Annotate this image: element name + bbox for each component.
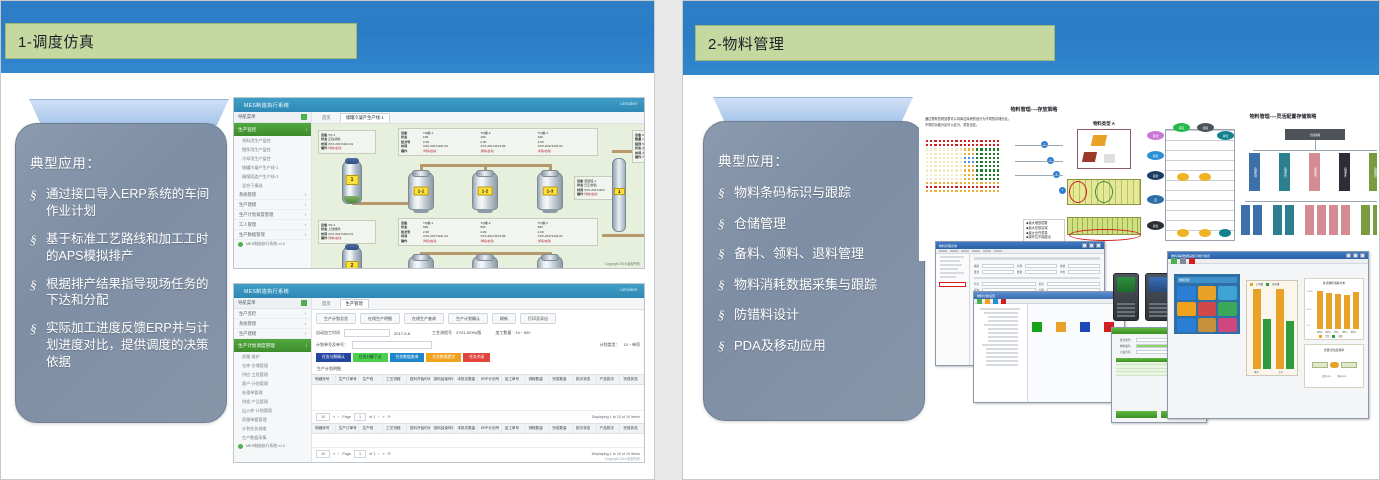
mes-plan-screenshot: MES制造执行系统 uimaker 导航菜单 生产监控› 系统管理› 生产建模›: [233, 283, 645, 463]
pda-icon[interactable]: [1218, 318, 1237, 332]
bullet-marker-icon: §: [30, 231, 46, 265]
mes-nav-item[interactable]: 系统管理›: [234, 190, 311, 200]
tag-blue: 巷道: [1147, 151, 1164, 160]
rack-layout-graphic: 区域 巷道 货架 层 货位 库区 通道 库位: [1147, 125, 1239, 245]
org-l2: [1329, 205, 1338, 235]
bar-plan-1: [1253, 289, 1261, 369]
info-val: 正在领料: [328, 137, 340, 141]
org-l1: 存储类型: [1309, 153, 1320, 191]
cube-icon-yellow: [1091, 135, 1107, 146]
pager-of: of 1: [369, 452, 375, 456]
mes-subitem[interactable]: 出入库·计划管理: [234, 406, 311, 415]
th: 操作: [401, 149, 407, 153]
tank-cap-icon: [345, 244, 359, 250]
side-legend: 实际: [1338, 334, 1342, 338]
mes-subitem[interactable]: 供应·工程管理: [234, 370, 311, 379]
chart-xtick: 本月: [1254, 370, 1259, 374]
grid-col: 生产订单号: [336, 424, 360, 433]
grid-col: 工艺流程: [383, 424, 407, 433]
mes-sidebar-header: 导航菜单: [234, 112, 311, 123]
org-root: 仓储策略: [1285, 129, 1345, 140]
mes-subitem[interactable]: 处理单管理: [234, 388, 311, 397]
pda-screen: [1117, 277, 1135, 292]
report-titlebar: 物料消耗数据采集与统计报表: [1168, 252, 1368, 259]
mes-nav-label: 系统管理: [239, 192, 256, 198]
pager-label: Page: [342, 415, 351, 419]
mes-nav-item[interactable]: 生产数据管理›: [234, 230, 311, 240]
mes-tab-home[interactable]: 首页: [317, 114, 336, 122]
side-bar: [1344, 295, 1350, 329]
grid-col: 明细序号: [312, 375, 336, 384]
side-ytick: 100%: [1307, 291, 1313, 293]
chevron-right-icon: ›: [305, 343, 307, 348]
slide-2-bullet-6: § PDA及移动应用: [718, 337, 914, 355]
chevron-right-icon: ›: [305, 321, 306, 326]
mes-nav-active-label: 生产计划调度管理: [238, 343, 275, 349]
org-l1: 存储库位: [1279, 153, 1290, 191]
grid-col: 工艺流程: [383, 375, 407, 384]
mes-subitem[interactable]: 质量·维护: [234, 352, 311, 361]
material-dialog: 物料分类设置: [973, 291, 1125, 403]
form-row-2: 计划单号及单号： 计划类型： 10・单项: [312, 339, 644, 351]
bullet-text: PDA及移动应用: [734, 337, 914, 355]
grid-col: 生产线: [359, 375, 383, 384]
grid-col: 产品批次: [597, 375, 621, 384]
tank-cap-icon: [345, 158, 359, 164]
grid-header-row-1: 明细序号 生产订单号 生产线 工艺流程 投料开始时间 投料结束时间 本批次数量 …: [312, 374, 644, 385]
field-input[interactable]: [344, 329, 390, 337]
flexible-storage-title: 物料管理----灵活配置存储策略: [1189, 113, 1377, 120]
field-value: 2017-9-8: [394, 331, 410, 336]
chevron-right-icon: ›: [305, 127, 307, 132]
pager-1: 10 « ‹ Page 1 of 1 › » ⟳ Displaying 1 to…: [312, 411, 644, 423]
th: 状态: [401, 225, 407, 229]
form-row-1: 自动加工时间 2017-9-8 工艺流程号 ZY01-9ZHU版 加工数量 10…: [312, 327, 644, 339]
pager-info: Displaying 1 to 10 of 10 items: [592, 415, 640, 419]
chevron-right-icon: ›: [305, 192, 306, 197]
legend-swatch-green: [1032, 322, 1042, 332]
mes-sidebar-footer: MES制造执行系统 v1.0: [234, 442, 311, 451]
first-page-icon[interactable]: «: [333, 452, 335, 456]
toolbar-button[interactable]: 在线生产明细: [360, 313, 400, 324]
report-title: 物料消耗数据采集与统计报表: [1171, 254, 1210, 258]
page-size-select[interactable]: 10: [316, 450, 330, 458]
side-bar: [1335, 294, 1341, 329]
storage-strategy-diagram: 物料管理----存放策略 通过物有的规划表可以将库位库房的划分为不同的存储分区。…: [919, 101, 1149, 261]
bar-plan-2: [1276, 289, 1284, 369]
info-key: 操作: [321, 236, 327, 240]
pallet-dot: [1177, 173, 1189, 181]
mes-nav-item[interactable]: 生产计划调度管理›: [234, 210, 311, 220]
grid-col: 投料开始时间: [407, 424, 431, 433]
slide-2-bullet-2: § 仓储管理: [718, 215, 914, 233]
field-label: 工艺流程号: [432, 330, 452, 336]
refresh-icon[interactable]: ⟳: [388, 415, 391, 419]
mes-subitem[interactable]: 排程·产品管理: [234, 397, 311, 406]
slide-2-bullet-5: § 防错料设计: [718, 306, 914, 324]
mes-tabbar: 首页 生产管理: [312, 298, 644, 310]
legend-swatch-blue: [1080, 322, 1090, 332]
tag-purple: 区域: [1147, 131, 1164, 140]
note-item: ◆操作位不能超出: [1026, 235, 1062, 240]
org-l1: 存储规则: [1369, 153, 1377, 191]
page-input[interactable]: 1: [354, 413, 366, 421]
mes-subitem[interactable]: 搅拌用生产监控: [234, 145, 311, 154]
reactor-tank: 1-1: [408, 172, 434, 210]
mes-user-label: uimaker: [620, 101, 638, 106]
mes-sidebar: 导航菜单 生产监控› 系统管理› 生产建模› 生产计划调度管理 › 质量·维护 …: [234, 298, 312, 462]
mes-tab-active[interactable]: 生产管理: [340, 299, 369, 308]
pda-field-label: 物料编码：: [1120, 344, 1133, 348]
pda-device-1: [1113, 273, 1139, 321]
column-label: 1: [614, 188, 625, 195]
report-window: 物料消耗数据采集与统计报表 物料管理: [1167, 251, 1369, 419]
mes-nav-item[interactable]: 系统管理›: [234, 319, 311, 329]
action-button[interactable]: 任务数据查询: [390, 353, 425, 362]
org-l2: [1273, 205, 1282, 235]
tank-label: 1-3: [543, 187, 558, 196]
org-l2: [1305, 205, 1314, 235]
th: 状态: [401, 135, 407, 139]
first-page-icon[interactable]: «: [333, 415, 335, 419]
chevron-right-icon: ›: [305, 311, 306, 316]
action-button[interactable]: 任务分解确认: [316, 353, 351, 362]
pda-icon[interactable]: [1218, 286, 1237, 300]
device-info-box: 设备 TQ-1 状态 正在领料 时间 XXX-20171101:01 操作 详情…: [318, 130, 376, 154]
collapse-icon[interactable]: [301, 114, 307, 120]
action-button[interactable]: 任务分解下达: [353, 353, 388, 362]
grid-col: 生产订单号: [336, 375, 360, 384]
mes-nav-label: 生产计划调度管理: [239, 212, 273, 218]
bullet-text: 仓储管理: [734, 215, 914, 233]
pda-icon[interactable]: [1198, 318, 1217, 332]
legend-label: 计划量: [1256, 282, 1263, 286]
side-xtick: 物料D: [1342, 331, 1347, 334]
pda-app-title: 物料管理: [1179, 278, 1189, 282]
mes-sidebar: 导航菜单 生产监控 › 领料用生产监控 搅拌用生产监控 冷却用生产监控 储罐冷凝…: [234, 112, 312, 268]
chart-legend: 计划量 实际量: [1250, 282, 1279, 286]
chevron-right-icon: ›: [305, 331, 306, 336]
grid-col: 投料结束时间: [431, 424, 455, 433]
bar-actual-2: [1286, 321, 1294, 369]
toolbar-button[interactable]: 生产计划确认: [448, 313, 488, 324]
org-l2: [1253, 205, 1262, 235]
status-dot-icon: [238, 444, 243, 449]
pda-field-label: 批次类型：: [1120, 338, 1133, 342]
window-tree-pane[interactable]: [936, 254, 970, 365]
prev-page-icon[interactable]: ‹: [338, 452, 339, 456]
toolbar-button[interactable]: 打印及导出: [520, 313, 556, 324]
toolbar-button[interactable]: 刷新: [492, 313, 516, 324]
chevron-right-icon: ›: [305, 222, 306, 227]
action-button[interactable]: 任务关闭: [463, 353, 490, 362]
side-legend: 计划: [1325, 334, 1329, 338]
field-input[interactable]: [352, 341, 432, 349]
slide-1-callout: 典型应用： § 通过接口导入ERP系统的车间作业计划 § 基于标准工艺路线和加工…: [15, 123, 227, 423]
side-chart: 重点物料消耗分布 100% 50% 0% 物料A 物料B 物料C 物料D 物料E: [1304, 278, 1364, 340]
chevron-right-icon: ›: [305, 202, 306, 207]
grid-col: 投料开始时间: [407, 375, 431, 384]
product-info-box: 设备 MQG-1 数量 1.00 级别 500 状态 进料出水 时间 XXX-2…: [632, 130, 644, 163]
pda-confirm-button[interactable]: [1116, 411, 1157, 418]
mes-nav-active-label: 生产监控: [238, 127, 256, 133]
mes-nav-item[interactable]: 生产建模›: [234, 329, 311, 339]
material-type-box: [1077, 129, 1131, 169]
bullet-marker-icon: §: [718, 276, 734, 294]
highlight-ellipse-red: [1069, 181, 1087, 203]
next-page-icon[interactable]: ›: [378, 415, 379, 419]
page-input[interactable]: 1: [354, 450, 366, 458]
org-l1: 存储条件: [1339, 153, 1350, 191]
org-l1: 存储区域: [1249, 153, 1260, 191]
slide-1-header-bar: 1-调度仿真: [5, 23, 357, 59]
info-key: 状态: [321, 227, 327, 231]
bullet-text: 实际加工进度反馈ERP并与计划进度对比，提供调度的决策依据: [46, 320, 216, 371]
grid-col: 本批次数量: [454, 375, 478, 384]
usage-panel: 仓储 货位使用率 占用 82%空闲 18%: [1304, 344, 1364, 388]
slide-1-bullet-4: § 实际加工进度反馈ERP并与计划进度对比，提供调度的决策依据: [30, 320, 216, 371]
tag-navy: 货架: [1147, 171, 1164, 180]
mes-subitem[interactable]: 混合干燥选: [234, 181, 311, 190]
mes-subitem[interactable]: 精馏塔造产生产线-1: [234, 172, 311, 181]
mes-subitem[interactable]: 计划任务调度: [234, 424, 311, 433]
status-dot-icon: [238, 242, 243, 247]
tag-teal: 库位: [1217, 131, 1234, 140]
mes-subitem[interactable]: 冷却用生产监控: [234, 154, 311, 163]
bullet-marker-icon: §: [30, 186, 46, 220]
mes-subitem[interactable]: 领料用生产监控: [234, 136, 311, 145]
bullet-marker-icon: §: [718, 337, 734, 355]
grid-col: 排程数量: [525, 424, 549, 433]
flexible-storage-diagram: 物料管理----灵活配置存储策略 区域 巷道 货架 层 货位 库区 通道 库位 …: [1145, 101, 1377, 251]
material-consumption-chart: 计划量 实际量 本月 上月: [1246, 280, 1298, 376]
grid-body-2: [312, 434, 644, 448]
action-button-row: 任务分解确认 任务分解下达 任务数据查询 任务数据提交 任务关闭: [312, 351, 644, 364]
window-titlebar: 物料管理系统: [936, 242, 1104, 249]
grid-col: 完成数量: [549, 375, 573, 384]
bullet-marker-icon: §: [30, 320, 46, 371]
chart-xtick: 上月: [1278, 370, 1283, 374]
toolbar-button[interactable]: 生产计划总览: [316, 313, 356, 324]
legend-label: 实际量: [1272, 282, 1279, 286]
reactor-tank: 2-3: [537, 256, 563, 268]
action-button[interactable]: 任务数据提交: [426, 353, 461, 362]
mes-form-area: 生产计划总览 在线生产明细 在线生产查询 生产计划确认 刷新 打印及导出 自动加…: [312, 310, 644, 462]
bullet-text: 物料消耗数据采集与跟踪: [734, 276, 914, 294]
mes-nav-active[interactable]: 生产计划调度管理 ›: [234, 339, 311, 352]
page-size-select[interactable]: 10: [316, 413, 330, 421]
tank-label: 2: [346, 261, 359, 268]
reactor-tank: 1-2: [472, 172, 498, 210]
mes-app-title: MES制造执行系统: [244, 288, 289, 295]
side-xtick: 物料E: [1351, 331, 1356, 334]
side-bar: [1326, 293, 1332, 329]
grid-col: 批次状态: [573, 375, 597, 384]
grid-col: ERP计划号: [478, 375, 502, 384]
chevron-right-icon: ›: [305, 212, 306, 217]
cube-icon-gray: [1104, 154, 1115, 163]
bullet-text: 基于标准工艺路线和加工工时的APS模拟排产: [46, 231, 216, 265]
org-connector: [1245, 201, 1377, 202]
pda-icon[interactable]: [1177, 286, 1196, 300]
dialog-tree[interactable]: [974, 304, 1028, 402]
side-ytick: 0%: [1307, 325, 1310, 327]
section-label: 生产计划明细: [312, 364, 644, 374]
refresh-icon[interactable]: ⟳: [388, 452, 391, 456]
bullet-text: 物料条码标识与跟踪: [734, 184, 914, 202]
slide-2-bullet-4: § 物料消耗数据采集与跟踪: [718, 276, 914, 294]
bullet-marker-icon: §: [718, 306, 734, 324]
pallet-dot: [1219, 229, 1231, 237]
slide-2-header-text: 2-物料管理: [696, 33, 784, 54]
org-l2: [1285, 205, 1294, 235]
grid-col: 本批次数量: [454, 424, 478, 433]
mes-footer-text: MES制造执行系统 v1.0: [246, 242, 285, 247]
info-key: 操作: [321, 146, 327, 150]
tank-label: 1-2: [478, 187, 493, 196]
org-connector: [1315, 140, 1316, 150]
th: 时间: [401, 144, 407, 148]
slide-2-bullet-1: § 物料条码标识与跟踪: [718, 184, 914, 202]
reactor-tank: 2-2: [472, 256, 498, 268]
pallet-dot: [1199, 229, 1211, 237]
tag-blue2: 层: [1147, 195, 1164, 204]
grid-header-row-2: 明细序号 生产订单号 生产线 工艺流程 投料开始时间 投料结束时间 本批次数量 …: [312, 423, 644, 434]
mes-user-label: uimaker: [620, 287, 638, 292]
tank-info-table-top: 设备 状态 批次号 时间 操作 TQ罐-1 100 2.00 XXX-20171…: [398, 128, 598, 156]
mes-tab-active[interactable]: 储罐冷凝产生产线-1: [340, 113, 390, 122]
mes-tab-home[interactable]: 首页: [317, 300, 336, 308]
leader-line: [1015, 161, 1063, 162]
mes-nav-item[interactable]: 工人管理›: [234, 220, 311, 230]
leader-line: [1015, 145, 1063, 146]
org-l2: [1361, 205, 1370, 235]
grid-body-1: [312, 385, 644, 411]
grid-col: 投料结束时间: [431, 375, 455, 384]
org-l2: [1373, 205, 1377, 235]
slide-1-callout-title: 典型应用：: [30, 152, 216, 172]
th: 时间: [401, 234, 407, 238]
grid-col: 完成数量: [549, 424, 573, 433]
field-value: 10・500: [515, 330, 530, 336]
slide-stage: 1-调度仿真 典型应用： § 通过接口导入ERP系统的车间作业计划 § 基于标准…: [0, 0, 1380, 480]
field-label: 自动加工时间: [316, 330, 340, 336]
org-l2: [1341, 205, 1350, 235]
tank-label: 1: [346, 175, 359, 185]
mes-nav-label: 生产监控: [239, 311, 256, 317]
next-page-icon[interactable]: ›: [378, 452, 379, 456]
pda-icon[interactable]: [1177, 318, 1196, 332]
mes-nav-item[interactable]: 生产监控›: [234, 309, 311, 319]
mes-sidebar-header-text: 导航菜单: [238, 114, 256, 120]
reactor-tank: 1-3: [537, 172, 563, 210]
report-toolbar[interactable]: [1168, 259, 1368, 264]
mes-titlebar: MES制造执行系统 uimaker: [234, 98, 644, 112]
pda-icon[interactable]: [1198, 302, 1217, 316]
mes-main-area: 首页 储罐冷凝产生产线-1 设备 TQ-1 状态 正在领料 时间 XXX-201: [312, 112, 644, 268]
grid-col: 生产线: [359, 424, 383, 433]
field-label: 加工数量: [495, 330, 511, 336]
bullet-text: 防错料设计: [734, 306, 914, 324]
mes-nav-label: 生产建模: [239, 202, 256, 208]
bullet-text: 根据排产结果指导现场任务的下达和分配: [46, 276, 216, 310]
last-page-icon[interactable]: »: [382, 452, 384, 456]
mes-copyright: Copyright 2016 版权所有: [605, 456, 640, 461]
field-value: ZY01-9ZHU版: [456, 330, 481, 336]
org-l2-group: [1241, 205, 1377, 235]
pager-2: 10 « ‹ Page 1 of 1 › » ⟳ Displaying 1 to…: [312, 448, 644, 460]
info-key: 状态: [321, 137, 327, 141]
window-title: 物料管理系统: [939, 244, 957, 248]
mes-copyright: Copyright 2016 版权所有: [605, 261, 640, 266]
bullet-marker-icon: §: [718, 184, 734, 202]
report-window-controls[interactable]: [1346, 253, 1365, 258]
grid-col: 批次状态: [573, 424, 597, 433]
mes-subitem[interactable]: 仓库·仓储管理: [234, 361, 311, 370]
mes-nav-item[interactable]: 生产建模›: [234, 200, 311, 210]
side-chart-title: 重点物料消耗分布: [1305, 279, 1363, 285]
pda-keypad: [1149, 303, 1167, 317]
dialog-legend: [1028, 304, 1124, 402]
field-label: 计划单号及单号：: [316, 342, 348, 348]
mes-subitem[interactable]: 质量单据管理: [234, 415, 311, 424]
pda-icon[interactable]: [1198, 286, 1217, 300]
field-value: 10・单项: [624, 342, 640, 348]
mes-nav-active[interactable]: 生产监控 ›: [234, 123, 311, 136]
mes-subitem[interactable]: 客户·计划管理: [234, 379, 311, 388]
grid-col: 排程数量: [525, 375, 549, 384]
slide-2-callout-title: 典型应用：: [718, 150, 914, 170]
mes-nav-label: 生产建模: [239, 331, 256, 337]
leader-line: [1015, 175, 1063, 176]
slide-1-bullet-1: § 通过接口导入ERP系统的车间作业计划: [30, 186, 216, 220]
pallet-dot: [1199, 173, 1211, 181]
window-controls[interactable]: [1082, 243, 1101, 248]
usage-panel-title: 仓储 货位使用率: [1305, 345, 1363, 352]
mes-subitem[interactable]: 生产数据采集: [234, 433, 311, 442]
slide-1-tab-shape: [29, 99, 229, 125]
reactor-tank: 2-1: [408, 256, 434, 268]
slide-1-bullet-2: § 基于标准工艺路线和加工工时的APS模拟排产: [30, 231, 216, 265]
distillation-column: [612, 158, 626, 232]
collapse-icon[interactable]: [301, 300, 307, 306]
tank-info-table-bottom: 设备 状态 批次号 时间 操作 TQ罐-1 500 2.00 XXX-20171…: [398, 218, 598, 246]
side-bar: [1317, 291, 1323, 329]
prev-page-icon[interactable]: ‹: [338, 415, 339, 419]
pda-icon[interactable]: [1218, 302, 1237, 316]
bar-actual-1: [1263, 319, 1271, 369]
grid-col: 产品批次: [597, 424, 621, 433]
bullet-text: 备料、领料、退料管理: [734, 245, 914, 263]
last-page-icon[interactable]: »: [382, 415, 384, 419]
pda-icon[interactable]: [1177, 302, 1196, 316]
highlight-ellipse-green: [1095, 181, 1113, 203]
tank-label: 1-1: [414, 187, 429, 196]
field-label: 计划类型：: [600, 342, 620, 348]
bullet-marker-icon: §: [718, 245, 734, 263]
slide-1-bullet-3: § 根据排产结果指导现场任务的下达和分配: [30, 276, 216, 310]
mes-nav-label: 生产数据管理: [239, 232, 265, 238]
slide-1-header-text: 1-调度仿真: [6, 31, 94, 52]
mes-sidebar-header: 导航菜单: [234, 298, 311, 309]
mes-process-screenshot: MES制造执行系统 uimaker 导航菜单 生产监控 › 领料用生产监控 搅拌…: [233, 97, 645, 269]
pipe-segment: [602, 234, 644, 237]
pda-field-label: 扫描条码：: [1120, 350, 1133, 354]
toolbar-button[interactable]: 在线生产查询: [404, 313, 444, 324]
slide-2-tab-shape: [713, 97, 913, 123]
mes-subitem[interactable]: 储罐冷凝产生产线-1: [234, 163, 311, 172]
slide-1: 1-调度仿真 典型应用： § 通过接口导入ERP系统的车间作业计划 § 基于标准…: [0, 0, 655, 480]
